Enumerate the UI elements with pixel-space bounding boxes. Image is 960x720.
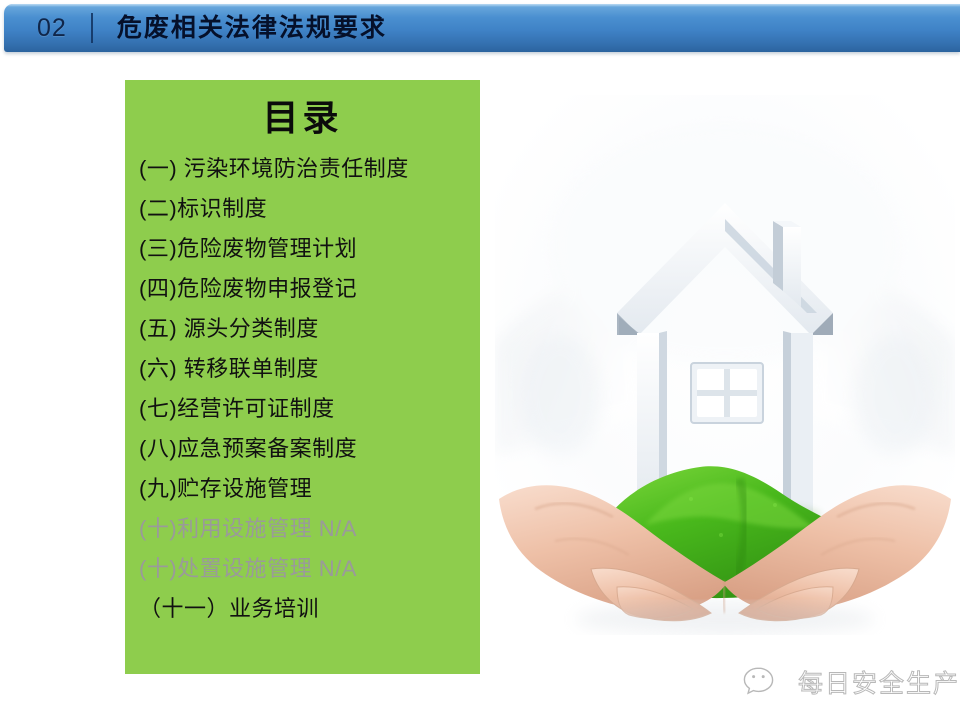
agenda-panel: 目录 (一) 污染环境防治责任制度 (二)标识制度 (三)危险废物管理计划 (四… bbox=[125, 80, 480, 674]
agenda-title: 目录 bbox=[125, 96, 480, 139]
section-number: 02 bbox=[37, 16, 67, 41]
agenda-list: (一) 污染环境防治责任制度 (二)标识制度 (三)危险废物管理计划 (四)危险… bbox=[125, 149, 480, 629]
hands-holding-grass-and-house-photo bbox=[495, 95, 955, 635]
list-item[interactable]: (十)处置设施管理 N/A bbox=[139, 549, 480, 589]
list-item[interactable]: (七)经营许可证制度 bbox=[139, 389, 480, 429]
list-item[interactable]: (二)标识制度 bbox=[139, 189, 480, 229]
list-item[interactable]: (十)利用设施管理 N/A bbox=[139, 509, 480, 549]
watermark-text: 每日安全生产 bbox=[798, 671, 960, 696]
list-item[interactable]: (三)危险废物管理计划 bbox=[139, 229, 480, 269]
list-item[interactable]: (一) 污染环境防治责任制度 bbox=[139, 149, 480, 189]
list-item[interactable]: (四)危险废物申报登记 bbox=[139, 269, 480, 309]
slide-header-bar: 02 危废相关法律法规要求 bbox=[4, 4, 960, 52]
slide: 02 危废相关法律法规要求 目录 (一) 污染环境防治责任制度 (二)标识制度 … bbox=[0, 0, 960, 720]
list-item[interactable]: （十一）业务培训 bbox=[139, 589, 480, 629]
vertical-divider-icon bbox=[91, 13, 93, 43]
watermark: 每日安全生产 bbox=[742, 660, 952, 706]
list-item[interactable]: (九)贮存设施管理 bbox=[139, 469, 480, 509]
list-item[interactable]: (六) 转移联单制度 bbox=[139, 349, 480, 389]
list-item[interactable]: (五) 源头分类制度 bbox=[139, 309, 480, 349]
page-title: 危废相关法律法规要求 bbox=[117, 16, 387, 41]
slide-header-inner: 02 危废相关法律法规要求 bbox=[4, 4, 960, 52]
list-item[interactable]: (八)应急预案备案制度 bbox=[139, 429, 480, 469]
wechat-icon bbox=[742, 665, 788, 701]
